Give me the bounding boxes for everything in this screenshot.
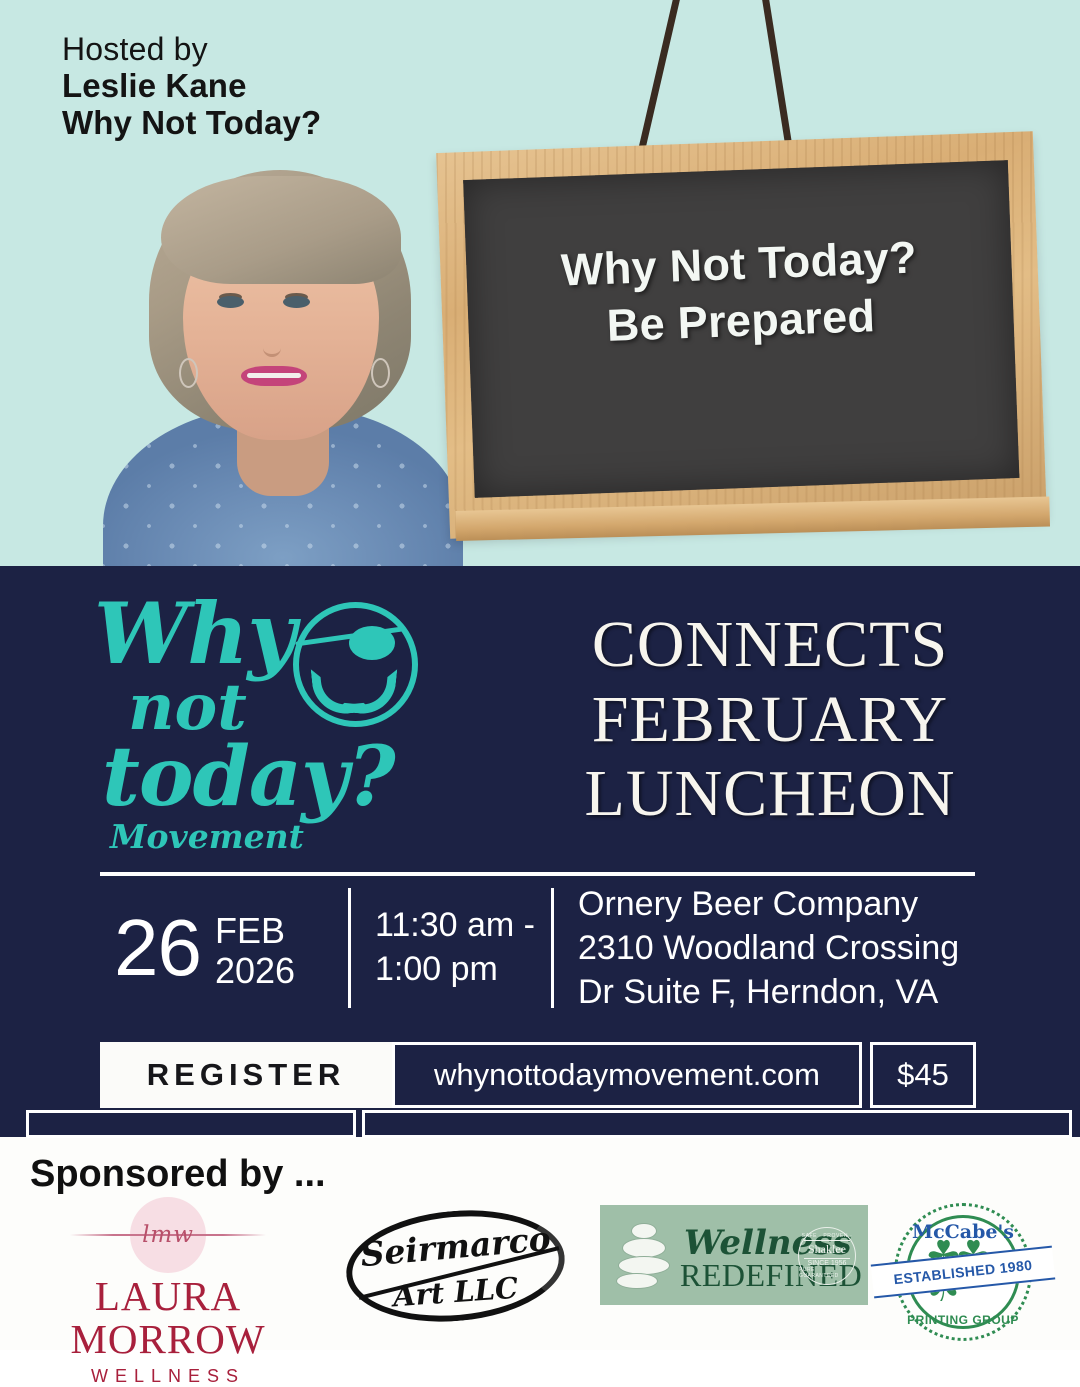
host-organization: Why Not Today? xyxy=(62,105,321,142)
register-button[interactable]: REGISTER xyxy=(100,1042,392,1108)
logo-word-why: Why xyxy=(94,592,295,676)
shaklee-badge-since: SINCE 1956 xyxy=(808,1260,847,1267)
event-address-line-2: Dr Suite F, Herndon, VA xyxy=(578,970,959,1014)
host-name: Leslie Kane xyxy=(62,68,321,105)
event-title: CONNECTS FEBRUARY LUNCHEON xyxy=(510,608,1030,832)
event-details-strip: 26 FEB 2026 11:30 am - 1:00 pm Ornery Be… xyxy=(100,884,980,1012)
mustache-icon xyxy=(313,666,395,696)
event-venue: Ornery Beer Company xyxy=(578,882,959,926)
mustache-face-icon xyxy=(293,602,418,727)
header-section: Hosted by Leslie Kane Why Not Today? Why… xyxy=(0,0,1080,566)
laura-morrow-tagline: WELLNESS xyxy=(8,1366,328,1387)
register-label: REGISTER xyxy=(147,1057,345,1093)
event-month-year: FEB 2026 xyxy=(215,905,295,992)
laura-morrow-name: LAURA MORROW xyxy=(8,1275,328,1361)
sponsor-logos-row: lmw LAURA MORROW WELLNESS Seirmarco Art … xyxy=(0,1193,1080,1343)
event-date: 26 FEB 2026 xyxy=(100,884,348,1012)
event-title-line-1: CONNECTS xyxy=(510,608,1030,683)
shaklee-badge-top-text: SAFE · PROVEN · xyxy=(802,1233,853,1239)
event-day: 26 xyxy=(114,911,201,985)
portrait-earring-left xyxy=(179,358,198,388)
shaklee-badge-name: Shaklee xyxy=(804,1240,850,1259)
event-title-line-3: LUNCHEON xyxy=(510,757,1030,832)
logo-word-movement: Movement xyxy=(110,820,304,853)
why-not-today-logo: Why not today? Movement xyxy=(88,586,488,876)
hosted-by-label: Hosted by xyxy=(62,32,321,68)
stacked-stones-icon xyxy=(616,1223,670,1289)
shaklee-badge-bottom-text: PURE GUARANTEED xyxy=(799,1267,855,1279)
sponsors-section: Sponsored by ... lmw LAURA MORROW WELLNE… xyxy=(0,1137,1080,1350)
register-underbar-right xyxy=(362,1110,1072,1138)
portrait-eye-left xyxy=(217,296,244,308)
event-year: 2026 xyxy=(215,951,295,991)
laura-morrow-monogram-badge: lmw xyxy=(130,1197,206,1273)
hosted-by-block: Hosted by Leslie Kane Why Not Today? xyxy=(62,32,321,142)
portrait-mouth xyxy=(241,366,307,386)
sponsor-mccabes-printing-group[interactable]: ☘☘☘ McCabe's PRINTING GROUP ESTABLISHED … xyxy=(888,1197,1038,1347)
mccabes-name: McCabe's xyxy=(888,1221,1038,1243)
stone-1 xyxy=(631,1223,657,1239)
stone-2 xyxy=(622,1238,666,1258)
logo-word-today: today? xyxy=(102,736,395,818)
details-divider-rule xyxy=(100,872,975,876)
event-address-line-1: 2310 Woodland Crossing xyxy=(578,926,959,970)
chalkboard-slate: Why Not Today? Be Prepared xyxy=(463,160,1019,498)
stone-3 xyxy=(618,1256,670,1275)
event-time-line-2: 1:00 pm xyxy=(375,948,535,992)
mccabes-division: PRINTING GROUP xyxy=(888,1313,1038,1327)
stone-4 xyxy=(616,1273,658,1289)
event-location: Ornery Beer Company 2310 Woodland Crossi… xyxy=(554,884,980,1012)
event-month: FEB xyxy=(215,911,295,951)
portrait-eye-right xyxy=(283,296,310,308)
shaklee-badge-icon: SAFE · PROVEN · Shaklee SINCE 1956 PURE … xyxy=(798,1227,856,1285)
sponsor-wellness-redefined[interactable]: Wellness REDEFINED SAFE · PROVEN · Shakl… xyxy=(600,1205,868,1305)
eyepatch-icon xyxy=(349,626,395,660)
register-price: $45 xyxy=(870,1042,976,1108)
register-underbar-left xyxy=(26,1110,356,1138)
event-title-line-2: FEBRUARY xyxy=(510,683,1030,758)
event-time-line-1: 11:30 am - xyxy=(375,904,535,948)
portrait-fringe xyxy=(161,176,401,284)
sponsor-seirmarco-art-llc[interactable]: Seirmarco Art LLC xyxy=(338,1207,573,1325)
speaker-portrait xyxy=(95,160,470,566)
chalkboard: Why Not Today? Be Prepared xyxy=(436,131,1047,539)
register-url-link[interactable]: whynottodaymovement.com xyxy=(392,1042,862,1108)
laura-morrow-monogram: lmw xyxy=(130,1197,206,1273)
chalkboard-rope-left xyxy=(636,0,682,158)
portrait-nose xyxy=(263,332,281,357)
sponsored-by-label: Sponsored by ... xyxy=(30,1153,326,1196)
event-time: 11:30 am - 1:00 pm xyxy=(351,884,551,1012)
chalkboard-message: Why Not Today? Be Prepared xyxy=(466,226,1015,359)
sponsor-laura-morrow-wellness[interactable]: lmw LAURA MORROW WELLNESS xyxy=(8,1197,328,1387)
portrait-earring-right xyxy=(371,358,390,388)
